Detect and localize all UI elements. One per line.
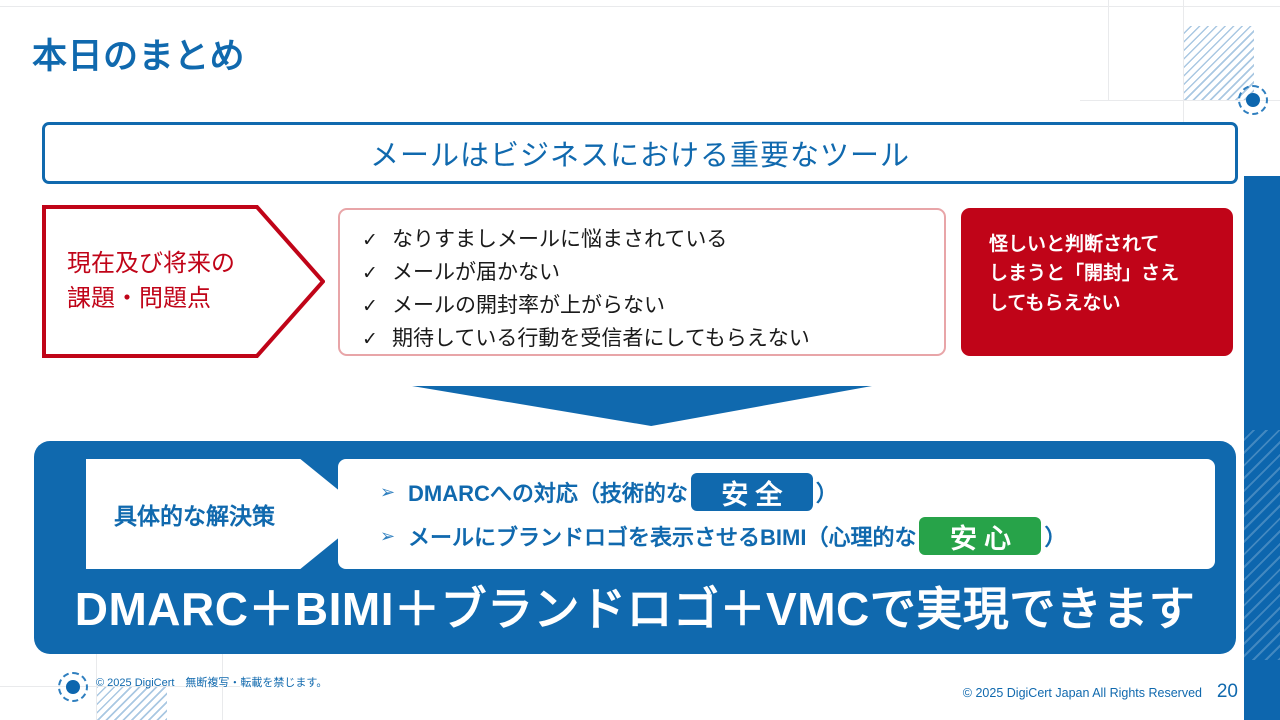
list-item-label: メールが届かない xyxy=(392,257,560,289)
deco-dot-bottom-left xyxy=(58,672,88,702)
problem-chevron-outline xyxy=(42,205,325,358)
warning-line-3: してもらえない xyxy=(989,289,1233,318)
page-title: 本日のまとめ xyxy=(32,28,245,79)
bullet-arrow-icon: ➢ xyxy=(380,482,408,503)
problem-checklist-box: ✓ なりすましメールに悩まされている ✓ メールが届かない ✓ メールの開封率が… xyxy=(338,208,946,356)
check-icon: ✓ xyxy=(362,227,392,256)
check-icon: ✓ xyxy=(362,260,392,289)
solution-list: ➢ DMARCへの対応（技術的な 安全 ） ➢ メールにブランドロゴを表示させる… xyxy=(338,459,1215,569)
down-arrow-icon xyxy=(412,386,872,426)
footer-copyright-left: © 2025 DigiCert 無断複写・転載を禁じます。 xyxy=(96,674,327,690)
slide-canvas: 本日のまとめ メールはビジネスにおける重要なツール 現在及び将来の 課題・問題点… xyxy=(0,0,1280,720)
warning-box: 怪しいと判断されて しまうと「開封」さえ してもらえない xyxy=(961,208,1233,356)
deco-hatch-bottom-left xyxy=(97,687,167,720)
list-item: ➢ メールにブランドロゴを表示させるBIMI（心理的な 安心 ） xyxy=(380,514,1215,558)
solution-row-suffix: ） xyxy=(816,476,838,508)
solution-row-prefix: DMARCへの対応（技術的な xyxy=(408,476,688,508)
solution-row-prefix: メールにブランドロゴを表示させるBIMI（心理的な xyxy=(408,520,916,552)
headline-box: メールはビジネスにおける重要なツール xyxy=(42,122,1238,184)
list-item-label: なりすましメールに悩まされている xyxy=(392,224,727,256)
footer-copyright-right: © 2025 DigiCert Japan All Rights Reserve… xyxy=(963,686,1202,700)
deco-right-bar-hatch xyxy=(1244,430,1280,660)
warning-line-2: しまうと「開封」さえ xyxy=(989,259,1233,288)
list-item: ➢ DMARCへの対応（技術的な 安全 ） xyxy=(380,470,1215,514)
deco-grid-line-top xyxy=(0,6,1280,7)
list-item: ✓ メールの開封率が上がらない xyxy=(362,290,944,322)
solution-panel: 具体的な解決策 ➢ DMARCへの対応（技術的な 安全 ） ➢ メールにブランド… xyxy=(34,441,1236,654)
deco-dot-top-right xyxy=(1238,85,1268,115)
bullet-arrow-icon: ➢ xyxy=(380,526,408,547)
list-item: ✓ なりすましメールに悩まされている xyxy=(362,224,944,256)
solution-chevron: 具体的な解決策 xyxy=(86,459,368,569)
list-item: ✓ 期待している行動を受信者にしてもらえない xyxy=(362,323,944,355)
deco-dot-core-icon xyxy=(1246,93,1260,107)
warning-line-1: 怪しいと判断されて xyxy=(989,230,1233,259)
check-icon: ✓ xyxy=(362,293,392,322)
deco-dot-core-icon xyxy=(66,680,80,694)
status-badge-anshin: 安心 xyxy=(919,517,1041,555)
solution-row-suffix: ） xyxy=(1044,520,1066,552)
list-item-label: 期待している行動を受信者にしてもらえない xyxy=(392,323,810,355)
deco-grid-line-v1 xyxy=(1108,0,1109,100)
headline-text: メールはビジネスにおける重要なツール xyxy=(370,132,910,174)
check-icon: ✓ xyxy=(362,326,392,355)
status-badge-anzen: 安全 xyxy=(691,473,813,511)
list-item-label: メールの開封率が上がらない xyxy=(392,290,665,322)
solution-chevron-label: 具体的な解決策 xyxy=(114,497,275,531)
page-number: 20 xyxy=(1217,681,1238,703)
list-item: ✓ メールが届かない xyxy=(362,257,944,289)
solution-headline: DMARC＋BIMI＋ブランドロゴ＋VMCで実現できます xyxy=(34,573,1236,639)
